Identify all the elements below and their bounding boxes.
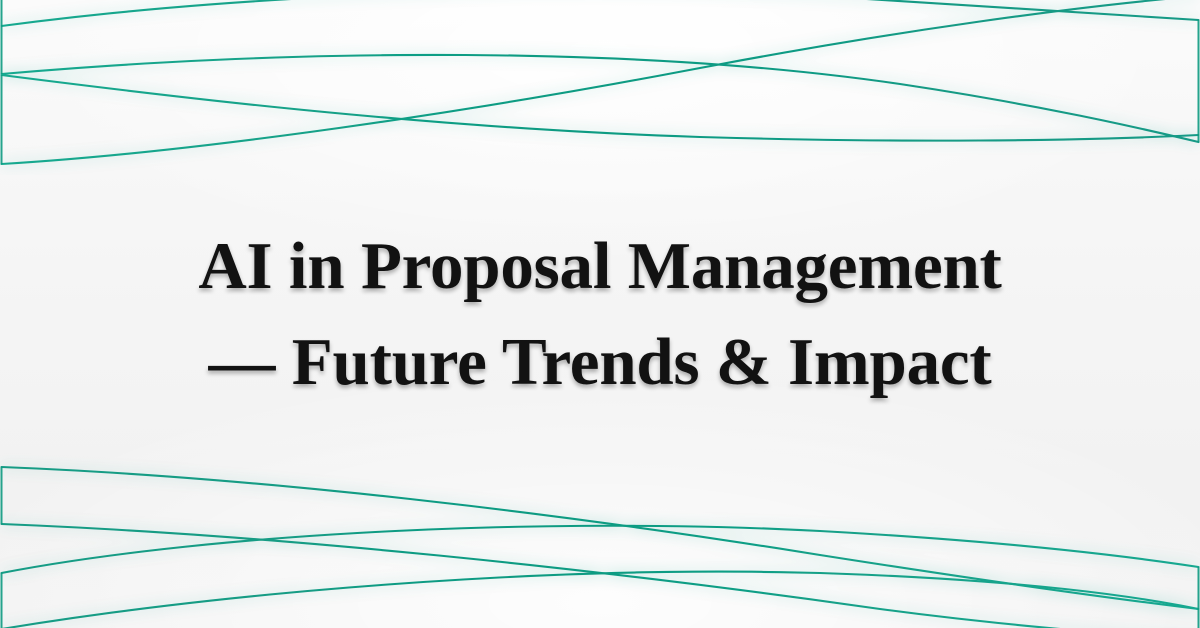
- page-title-line-1: AI in Proposal Management: [198, 218, 1001, 314]
- share-card: AI in Proposal Management — Future Trend…: [0, 0, 1200, 628]
- page-title: AI in Proposal Management — Future Trend…: [198, 218, 1001, 411]
- page-title-line-2: — Future Trends & Impact: [198, 314, 1001, 410]
- title-block: AI in Proposal Management — Future Trend…: [0, 0, 1200, 628]
